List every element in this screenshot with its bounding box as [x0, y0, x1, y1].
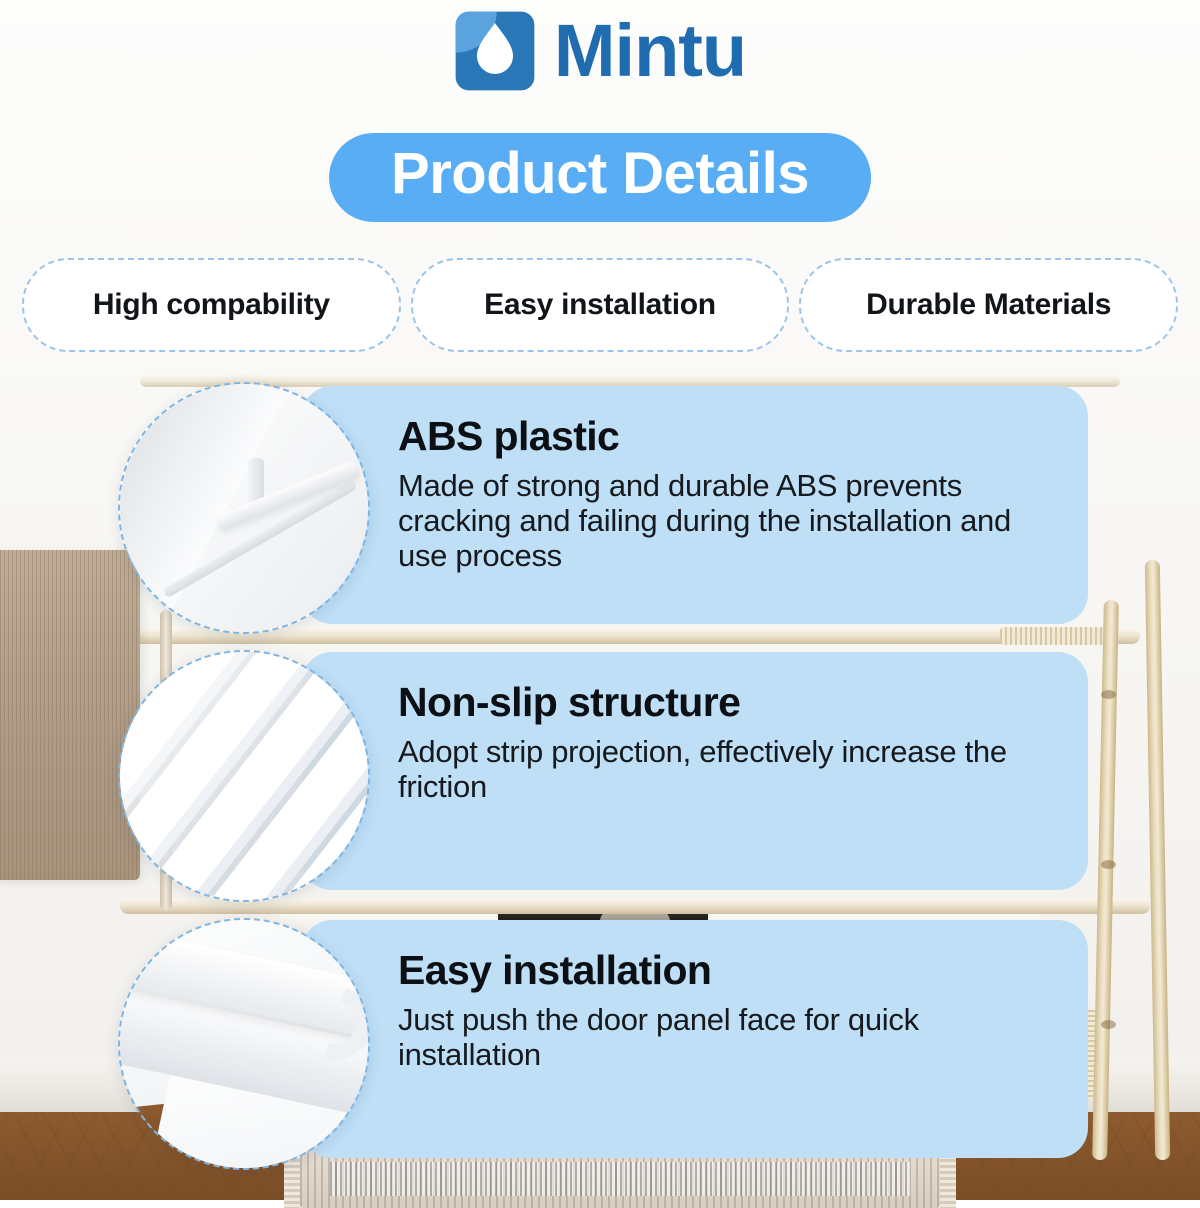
feature-card-easy-installation: Easy installation Just push the door pan…	[302, 920, 1088, 1158]
feature-tag-label: Easy installation	[484, 288, 716, 322]
feature-tag-high-compability[interactable]: High compability	[22, 258, 401, 352]
water-droplet-icon	[454, 10, 536, 92]
feature-card-abs-plastic: ABS plastic Made of strong and durable A…	[302, 386, 1088, 624]
product-closeup-non-slip	[118, 650, 370, 902]
feature-card-title: Non-slip structure	[398, 680, 1054, 725]
feature-card-title: Easy installation	[398, 948, 1054, 993]
feature-tag-label: High compability	[93, 288, 330, 322]
page-title-banner: Product Details	[329, 133, 871, 222]
feature-card-body: Just push the door panel face for quick …	[398, 1003, 1054, 1072]
brand-logo: Mintu	[0, 10, 1200, 92]
feature-tag-row: High compability Easy installation Durab…	[22, 258, 1178, 352]
feature-tag-durable-materials[interactable]: Durable Materials	[799, 258, 1178, 352]
product-closeup-abs-plastic	[118, 382, 370, 634]
abs-plastic-closeup-photo	[120, 384, 368, 632]
feature-card-title: ABS plastic	[398, 414, 1054, 459]
clip-profile-closeup-photo	[120, 920, 368, 1168]
feature-card-body: Adopt strip projection, effectively incr…	[398, 735, 1054, 804]
feature-card-body: Made of strong and durable ABS prevents …	[398, 469, 1054, 573]
feature-tag-label: Durable Materials	[866, 288, 1111, 322]
feature-card-non-slip-structure: Non-slip structure Adopt strip projectio…	[302, 652, 1088, 890]
page-title: Product Details	[391, 144, 809, 205]
non-slip-ribs-closeup-photo	[120, 652, 368, 900]
brand-name: Mintu	[554, 14, 746, 88]
feature-tag-easy-installation[interactable]: Easy installation	[411, 258, 790, 352]
product-closeup-easy-installation	[118, 918, 370, 1170]
